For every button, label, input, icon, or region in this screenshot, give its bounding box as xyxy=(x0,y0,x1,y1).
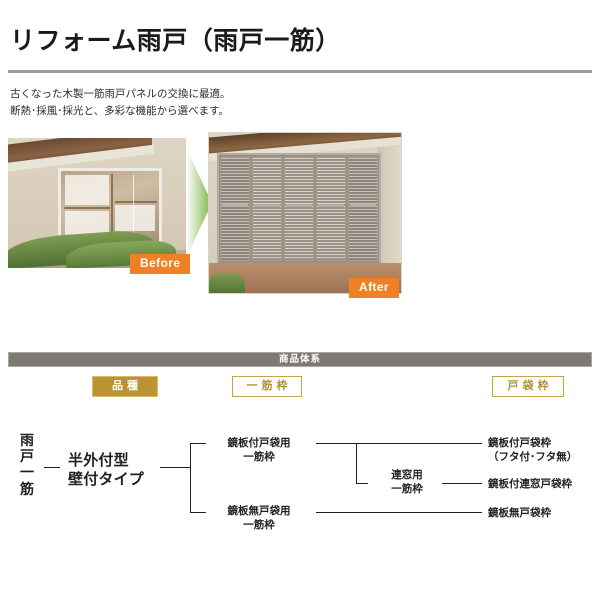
tree-node-pocket-1-line-2: （フタ付･フタ無） xyxy=(488,450,577,464)
page-title: リフォーム雨戸（雨戸一筋） xyxy=(10,28,590,56)
connector-to-mid-node xyxy=(356,483,368,484)
tree-node-pocket-3: 鏡板無戸袋枠 xyxy=(488,506,551,520)
before-shoji-1 xyxy=(65,175,109,205)
tree-node-frame-1-line-2: 一筋枠 xyxy=(205,450,313,464)
connector-to-frame-bottom xyxy=(190,512,206,513)
tree-node-renso-line-2: 一筋枠 xyxy=(370,482,444,496)
tree-node-renso-line-1: 連窓用 xyxy=(370,468,444,482)
tree-root-char-3: 一 xyxy=(16,464,38,480)
tree-node-frame-2: 鏡板無戸袋用 一筋枠 xyxy=(205,504,313,532)
tree-node-type-line-2: 壁付タイプ xyxy=(68,471,144,490)
tree-node-pocket-1-line-1: 鏡板付戸袋枠 xyxy=(488,436,577,450)
after-badge: After xyxy=(349,278,399,298)
before-glass-reflection xyxy=(133,175,134,241)
tree-root-char-4: 筋 xyxy=(16,481,38,497)
connector-mid-to-pocket2 xyxy=(442,483,482,484)
page-header: リフォーム雨戸（雨戸一筋） xyxy=(10,28,590,56)
tree-root-label: 雨 戸 一 筋 xyxy=(16,432,38,497)
lead-line-1: 古くなった木製一筋雨戸パネルの交換に最適。 xyxy=(10,86,410,103)
after-shutter-panel-3 xyxy=(284,157,314,261)
tree-node-frame-1-line-1: 鏡板付戸袋用 xyxy=(205,436,313,450)
tree-root-char-2: 戸 xyxy=(16,448,38,464)
product-lineup-bar: 商品体系 xyxy=(8,352,592,367)
connector-frame1-drop xyxy=(356,443,357,483)
tree-node-frame-2-line-2: 一筋枠 xyxy=(205,518,313,532)
connector-to-frame-top xyxy=(190,443,206,444)
connector-type-out xyxy=(160,467,190,468)
after-shutter-panel-2 xyxy=(252,157,282,261)
product-tree-diagram: 雨 戸 一 筋 半外付型 壁付タイプ 鏡板付戸袋用 一筋枠 鏡板無戸袋用 一筋枠 xyxy=(0,400,600,560)
connector-split-bus xyxy=(190,443,191,512)
connector-frame2-to-pocket3 xyxy=(316,512,482,513)
tree-node-pocket-2: 鏡板付連窓戸袋枠 xyxy=(488,477,572,491)
before-badge: Before xyxy=(130,254,190,274)
tree-node-pocket-2-line-1: 鏡板付連窓戸袋枠 xyxy=(488,477,572,491)
tree-node-renso: 連窓用 一筋枠 xyxy=(370,468,444,496)
lead-line-2: 断熱･採風･採光と、多彩な機能から選べます。 xyxy=(10,103,410,120)
before-mullion-h2 xyxy=(115,201,157,203)
tree-node-frame-2-line-1: 鏡板無戸袋用 xyxy=(205,504,313,518)
column-label-hinshu: 品種 xyxy=(92,376,158,397)
catalog-page: リフォーム雨戸（雨戸一筋） 古くなった木製一筋雨戸パネルの交換に最適。 断熱･採… xyxy=(0,0,600,600)
tree-node-pocket-3-line-1: 鏡板無戸袋枠 xyxy=(488,506,551,520)
after-shutter-panel-4 xyxy=(316,157,346,261)
before-after-gallery: Before After xyxy=(8,132,592,307)
after-shutter-assembly xyxy=(217,153,381,265)
after-shutter-panel-5 xyxy=(348,157,378,261)
after-shutter-panel-1 xyxy=(220,157,250,261)
before-shoji-3 xyxy=(115,205,155,231)
connector-frame1-to-pocket1 xyxy=(316,443,482,444)
after-photo xyxy=(208,132,402,294)
tree-node-type: 半外付型 壁付タイプ xyxy=(68,452,144,490)
connector-root-to-type xyxy=(44,467,60,468)
tree-node-pocket-1: 鏡板付戸袋枠 （フタ付･フタ無） xyxy=(488,436,577,464)
tree-root-char-1: 雨 xyxy=(16,432,38,448)
lead-copy: 古くなった木製一筋雨戸パネルの交換に最適。 断熱･採風･採光と、多彩な機能から選… xyxy=(10,86,410,121)
after-grass xyxy=(209,273,245,294)
tree-node-type-line-1: 半外付型 xyxy=(68,452,144,471)
tree-node-frame-1: 鏡板付戸袋用 一筋枠 xyxy=(205,436,313,464)
title-divider xyxy=(8,70,592,73)
column-label-hitosuji: 一筋枠 xyxy=(232,376,302,397)
before-mullion-h1 xyxy=(64,207,110,209)
before-photo xyxy=(8,138,186,268)
column-label-tobukuro: 戸袋枠 xyxy=(492,376,564,397)
